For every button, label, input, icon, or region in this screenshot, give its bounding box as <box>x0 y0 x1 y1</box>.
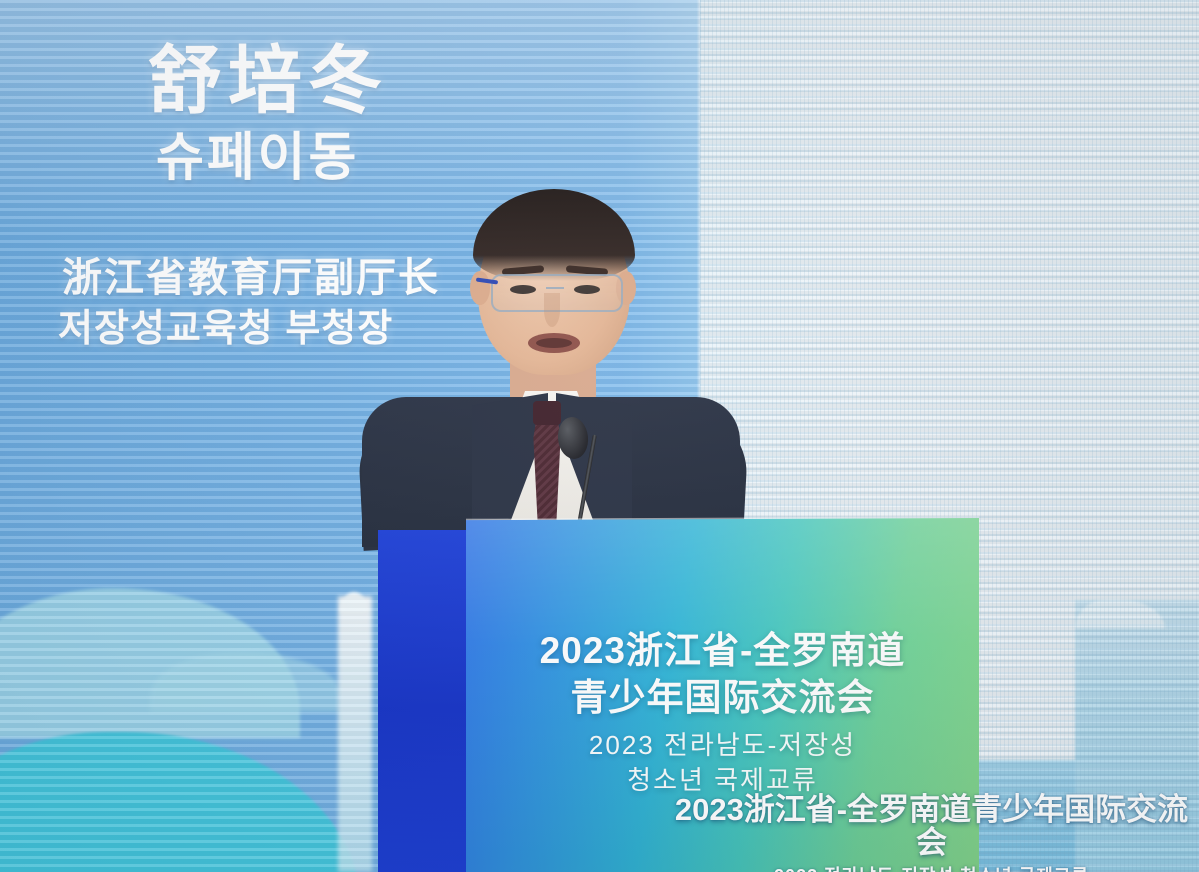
watermark-korean: 2023 전라남도-저장성 청소년 국제교류 <box>664 867 1199 872</box>
photograph-stage: 舒培冬 슈페이동 浙江省教育厅副厅长 저장성교육청 부청장 <box>0 0 1199 872</box>
necktie-knot <box>533 401 561 425</box>
podium-side-panel <box>378 530 466 872</box>
speaker-figure <box>360 175 740 535</box>
light-column-shape <box>338 596 372 872</box>
ear-left <box>470 271 490 305</box>
podium-title-chinese-line2: 青少年国际交流会 <box>466 677 979 718</box>
speaker-name-chinese: 舒培冬 <box>148 44 526 118</box>
watermark-chinese: 2023浙江省-全罗南道青少年国际交流会 <box>664 793 1199 860</box>
podium-event-title: 2023浙江省-全罗南道 青少年国际交流会 2023 전라남도-저장성 청소년 … <box>466 630 979 795</box>
watermark-banner: 2023浙江省-全罗南道青少年国际交流会 2023 전라남도-저장성 청소년 국… <box>664 793 1199 872</box>
eyeglasses-bridge <box>546 287 564 289</box>
podium-title-korean-line2: 청소년 국제교류 <box>466 766 979 795</box>
podium-title-korean-line1: 2023 전라남도-저장성 <box>466 731 979 760</box>
podium-title-chinese-line1: 2023浙江省-全罗南道 <box>466 630 979 671</box>
mouth-interior <box>536 338 572 348</box>
nose <box>544 293 560 327</box>
hair <box>473 189 635 281</box>
